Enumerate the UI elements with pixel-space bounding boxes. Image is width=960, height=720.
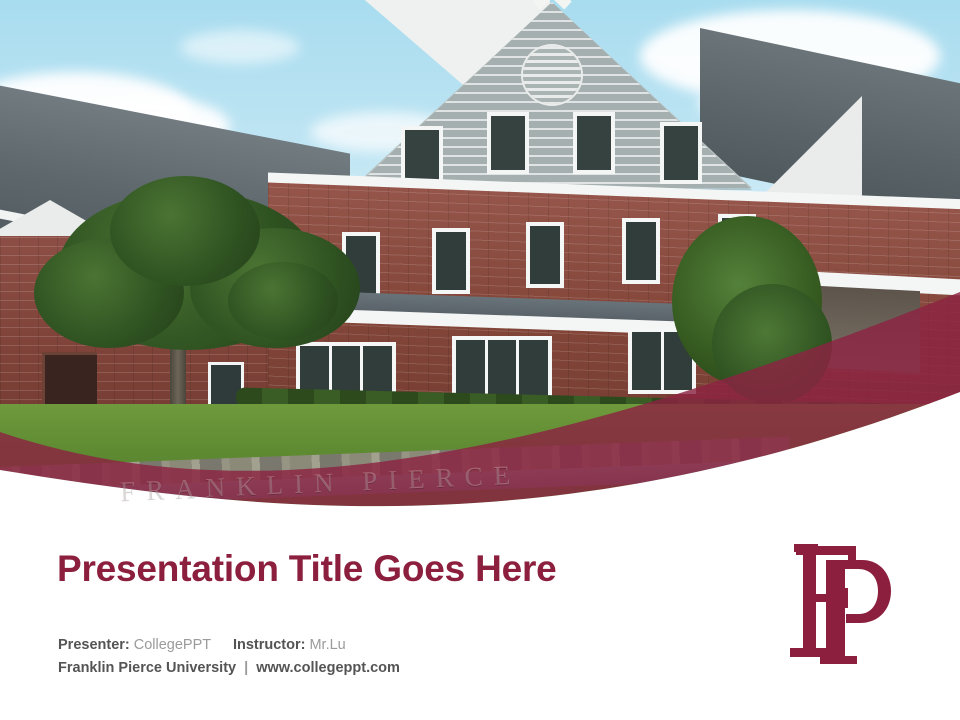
meta-row-organization: Franklin Pierce University | www.college…	[58, 657, 400, 680]
website-url[interactable]: www.collegeppt.com	[256, 660, 400, 676]
header-photo-banner: FRANKLIN PIERCE	[0, 0, 960, 512]
page-title: Presentation Title Goes Here	[57, 548, 557, 590]
presenter-value: CollegePPT	[134, 637, 211, 653]
presentation-slide: FRANKLIN PIERCE Presentation Title Goes …	[0, 0, 960, 720]
circular-gable-vent	[523, 46, 581, 104]
instructor-label: Instructor:	[233, 637, 306, 653]
meta-row-presenter: Presenter: CollegePPT Instructor: Mr.Lu	[58, 634, 400, 657]
gable-window	[487, 112, 529, 174]
instructor-value: Mr.Lu	[309, 637, 345, 653]
organization-name: Franklin Pierce University	[58, 660, 236, 676]
tree-right-lower	[712, 284, 832, 404]
building-window	[432, 228, 470, 294]
tree-canopy	[228, 262, 338, 340]
gable-window	[660, 122, 702, 184]
gable-window	[573, 112, 615, 174]
presentation-meta: Presenter: CollegePPT Instructor: Mr.Lu …	[58, 634, 400, 680]
tree-canopy	[110, 176, 260, 286]
building-window	[622, 218, 660, 284]
cloud	[180, 30, 300, 64]
meta-separator: |	[240, 660, 252, 676]
fp-monogram-logo	[782, 528, 902, 668]
presenter-label: Presenter:	[58, 637, 130, 653]
building-window	[526, 222, 564, 288]
